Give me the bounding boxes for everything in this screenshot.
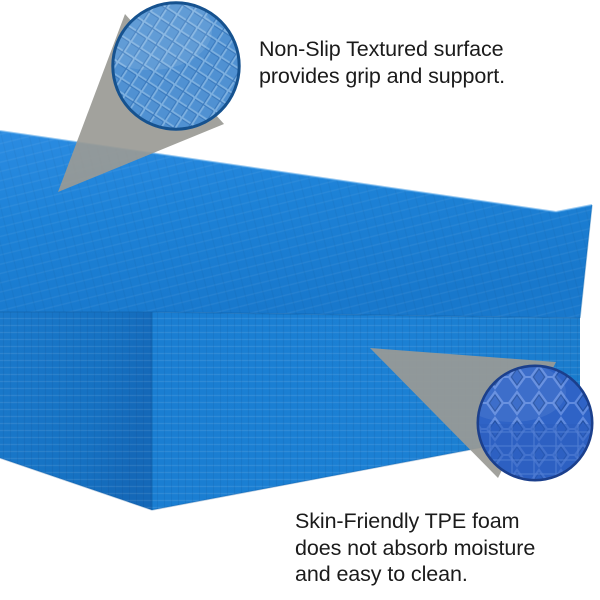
infographic-canvas: Non-Slip Textured surface provides grip … <box>0 0 600 600</box>
pad-front-left-face <box>0 312 152 510</box>
callout-text-skin-friendly: Skin-Friendly TPE foam does not absorb m… <box>295 508 595 588</box>
callout-text-non-slip: Non-Slip Textured surface provides grip … <box>259 36 589 89</box>
